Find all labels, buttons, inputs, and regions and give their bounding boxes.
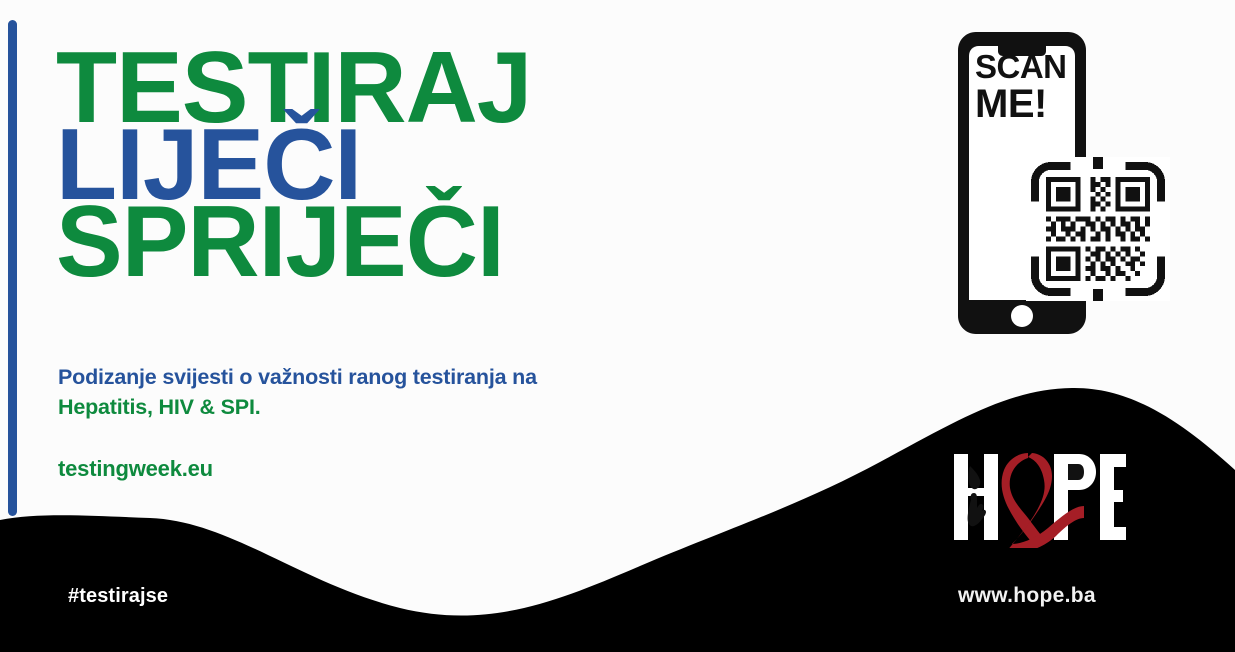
home-button-icon — [1011, 305, 1033, 327]
qr-code-icon[interactable] — [1026, 156, 1170, 302]
subtitle-line-1: Podizanje svijesti o važnosti ranog test… — [58, 362, 537, 392]
me-label: ME! — [975, 83, 1095, 125]
headline-line-3: SPRIJEČI — [56, 204, 531, 281]
hope-website-url[interactable]: www.hope.ba — [958, 584, 1096, 608]
scan-label: SCAN — [975, 48, 1067, 85]
page-title: TESTIRAJ LIJEČI SPRIJEČI — [56, 16, 536, 281]
subtitle: Podizanje svijesti o važnosti ranog test… — [58, 362, 537, 422]
scan-me-graphic[interactable]: SCAN ME! — [940, 28, 1180, 348]
website-link[interactable]: testingweek.eu — [58, 456, 213, 482]
scan-me-label: SCAN ME! — [975, 50, 1095, 125]
subtitle-line-2: Hepatitis, HIV & SPI. — [58, 392, 537, 422]
hashtag: #testirajse — [68, 585, 168, 608]
logo-letter-e — [1100, 454, 1126, 540]
hope-logo — [950, 448, 1130, 548]
logo-letter-h — [954, 454, 998, 540]
campaign-poster: TESTIRAJ LIJEČI SPRIJEČI Podizanje svije… — [0, 0, 1235, 652]
accent-bar — [8, 20, 17, 516]
